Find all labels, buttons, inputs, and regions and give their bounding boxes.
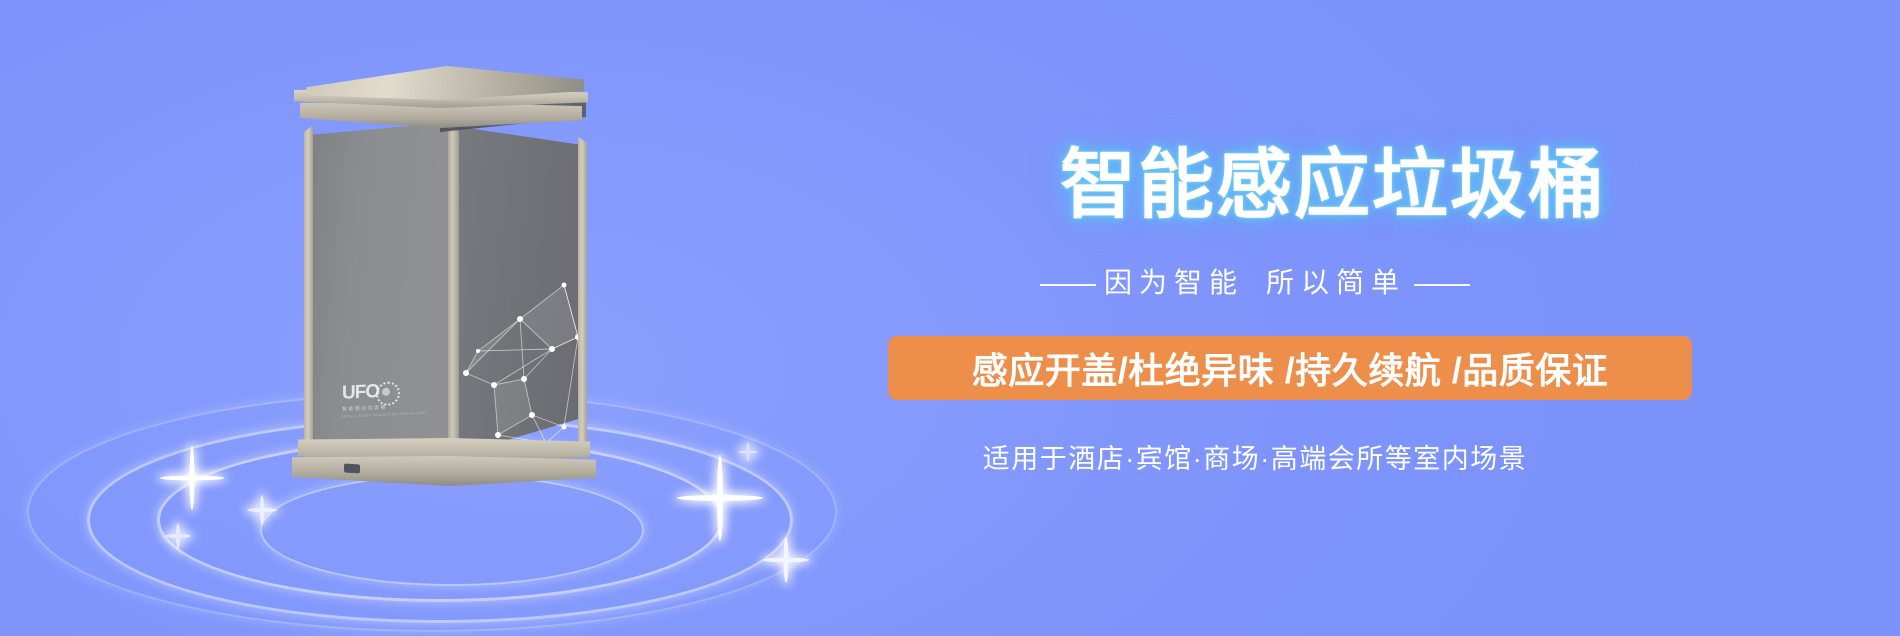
subtitle-dash-left: ——	[1032, 267, 1104, 298]
bin-post-left	[304, 122, 313, 456]
feature-highlight-text: 感应开盖/杜绝异味 /持久续航 /品质保证	[972, 342, 1609, 394]
bin-post-center	[448, 124, 459, 460]
product-stage: UFO 智能感应垃圾桶 INTELLIGENT INDUCTION TRASH …	[0, 0, 880, 636]
usage-scenario-text: 适用于酒店·宾馆·商场·高端会所等室内场景	[885, 437, 1625, 476]
brand-logo: UFO 智能感应垃圾桶 INTELLIGENT INDUCTION TRASH …	[342, 380, 420, 425]
feature-highlight-bar: 感应开盖/杜绝异味 /持久续航 /品质保证	[888, 336, 1692, 400]
subtitle-text-2: 所以简单	[1266, 267, 1406, 298]
bin-base-lower	[292, 456, 596, 486]
headline-title: 智能感应垃圾桶	[1060, 123, 1606, 233]
bin-lowpoly-graphic	[460, 275, 584, 450]
bin-post-right	[578, 130, 587, 456]
ripple-ring-3	[260, 474, 644, 586]
subtitle-dash-right: ——	[1406, 267, 1478, 298]
copy-column: 智能感应垃圾桶 ——因为智能所以简单—— 感应开盖/杜绝异味 /持久续航 /品质…	[880, 0, 1900, 636]
bin-base-slot	[344, 463, 360, 473]
lowpoly-svg	[460, 275, 584, 450]
promo-banner: UFO 智能感应垃圾桶 INTELLIGENT INDUCTION TRASH …	[0, 0, 1900, 636]
product-image-trash-bin: UFO 智能感应垃圾桶 INTELLIGENT INDUCTION TRASH …	[290, 60, 600, 490]
subtitle-text-1: 因为智能	[1104, 267, 1244, 298]
headline-subtitle: ——因为智能所以简单——	[885, 261, 1625, 301]
brand-logo-subtext-en: INTELLIGENT INDUCTION TRASH CAN	[342, 411, 420, 418]
